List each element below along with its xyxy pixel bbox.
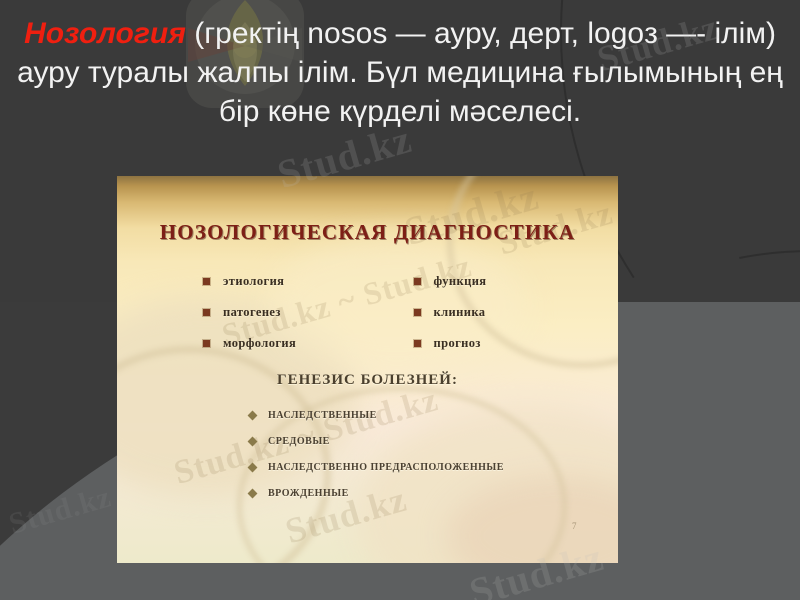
genesis-list: НАСЛЕДСТВЕННЫЕ СРЕДОВЫЕ НАСЛЕДСТВЕННО ПР…: [249, 402, 609, 506]
list-item: морфология: [203, 328, 368, 359]
list-item-label: функция: [434, 274, 487, 289]
list-item: НАСЛЕДСТВЕННЫЕ: [249, 402, 609, 428]
diamond-bullet-icon: [248, 436, 258, 446]
list-item-label: этиология: [223, 274, 284, 289]
panel-feature-columns: этиология патогенез морфология функция: [117, 266, 618, 359]
list-item: СРЕДОВЫЕ: [249, 428, 609, 454]
list-item-label: клиника: [434, 305, 486, 320]
list-item-label: СРЕДОВЫЕ: [268, 436, 330, 447]
square-bullet-icon: [203, 340, 210, 347]
list-item: этиология: [203, 266, 368, 297]
panel-title: НОЗОЛОГИЧЕСКАЯ ДИАГНОСТИКА: [117, 220, 618, 245]
list-item: НАСЛЕДСТВЕННО ПРЕДРАСПОЛОЖЕННЫЕ: [249, 454, 609, 480]
list-item-label: ВРОЖДЕННЫЕ: [268, 488, 349, 499]
page-title: Нозология (гректің nosos — ауру, дерт, l…: [0, 14, 800, 131]
square-bullet-icon: [414, 278, 421, 285]
genesis-section-title: ГЕНЕЗИС БОЛЕЗНЕЙ:: [117, 372, 618, 389]
list-item: клиника: [414, 297, 619, 328]
list-item: патогенез: [203, 297, 368, 328]
square-bullet-icon: [414, 340, 421, 347]
square-bullet-icon: [414, 309, 421, 316]
slide-canvas: Stud.kz Stud.kz Stud.kz ~ Stud.kz Stud.k…: [0, 0, 800, 600]
list-item: ВРОЖДЕННЫЕ: [249, 480, 609, 506]
list-item-label: прогноз: [434, 336, 481, 351]
diamond-bullet-icon: [248, 488, 258, 498]
list-item: прогноз: [414, 328, 619, 359]
square-bullet-icon: [203, 278, 210, 285]
list-item-label: НАСЛЕДСТВЕННО ПРЕДРАСПОЛОЖЕННЫЕ: [268, 462, 504, 473]
page-title-term: Нозология: [24, 17, 186, 50]
list-item: функция: [414, 266, 619, 297]
list-item-label: НАСЛЕДСТВЕННЫЕ: [268, 410, 377, 421]
nosology-diagram-panel: Stud.kz Stud.kz Stud.kz ~ Stud.kz Stud.k…: [117, 176, 618, 563]
list-item-label: морфология: [223, 336, 296, 351]
panel-corner-mark: 7: [572, 521, 577, 531]
diamond-bullet-icon: [248, 410, 258, 420]
square-bullet-icon: [203, 309, 210, 316]
list-item-label: патогенез: [223, 305, 281, 320]
panel-column-left: этиология патогенез морфология: [117, 266, 368, 359]
panel-column-right: функция клиника прогноз: [368, 266, 619, 359]
diamond-bullet-icon: [248, 462, 258, 472]
